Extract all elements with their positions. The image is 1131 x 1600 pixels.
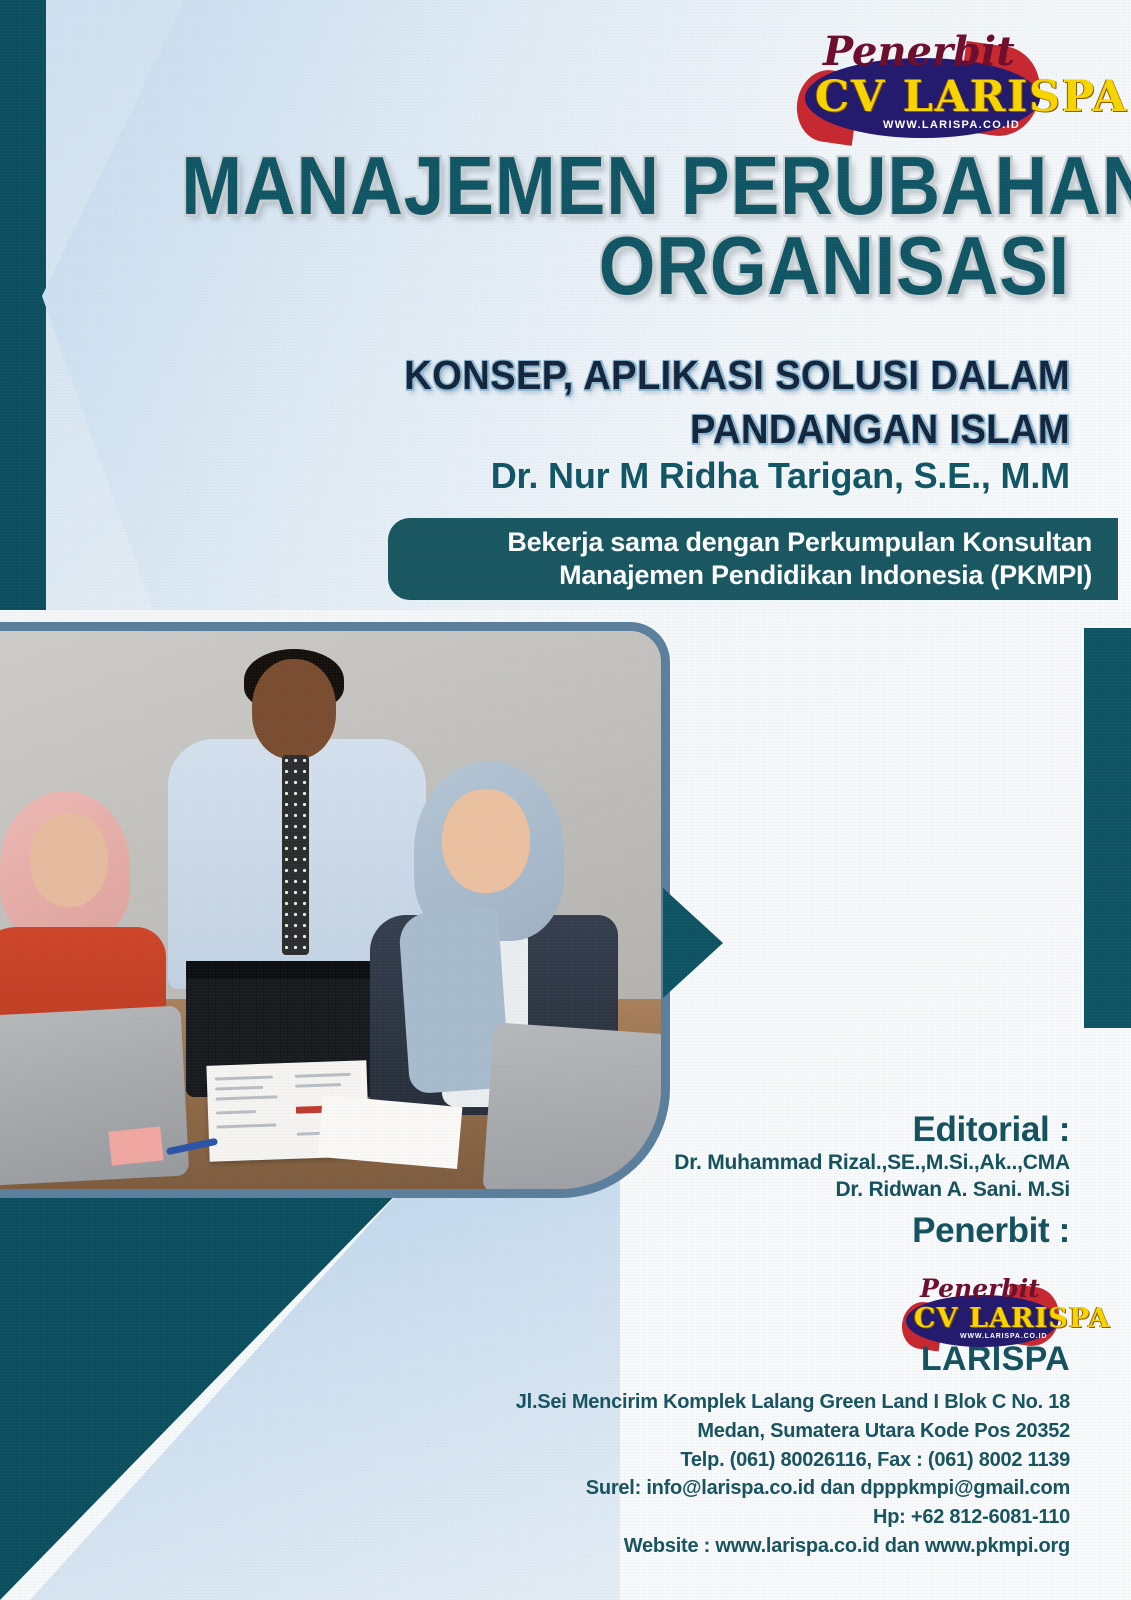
address-line: Jl.Sei Mencirim Komplek Lalang Green Lan… xyxy=(440,1388,1070,1417)
photo-loose-papers xyxy=(318,1095,463,1169)
address-line: Medan, Sumatera Utara Kode Pos 20352 xyxy=(440,1417,1070,1446)
publisher-logo-bottom: Penerbit CV LARISPA WWW.LARISPA.CO.ID xyxy=(888,1268,1078,1350)
author-name: Dr. Nur M Ridha Tarigan, S.E., M.M xyxy=(60,455,1070,497)
logo-script-text: Penerbit xyxy=(920,1274,1040,1303)
collaboration-banner: Bekerja sama dengan Perkumpulan Konsulta… xyxy=(388,518,1118,600)
banner-line-1: Bekerja sama dengan Perkumpulan Konsulta… xyxy=(388,526,1092,559)
editorial-name: Dr. Ridwan A. Sani. M.Si xyxy=(560,1177,1070,1204)
address-line: Telp. (061) 80026116, Fax : (061) 8002 1… xyxy=(440,1446,1070,1475)
logo-name-text: CV LARISPA xyxy=(815,72,1128,122)
cover-photo xyxy=(0,631,661,1189)
subtitle-line-1: KONSEP, APLIKASI SOLUSI DALAM xyxy=(131,348,1070,402)
logo-url-text: WWW.LARISPA.CO.ID xyxy=(960,1333,1047,1340)
photo-person-left-face xyxy=(30,813,108,907)
address-line: Website : www.larispa.co.id dan www.pkmp… xyxy=(440,1532,1070,1561)
editorial-section: Editorial : Dr. Muhammad Rizal.,SE.,M.Si… xyxy=(560,1110,1070,1204)
book-title: MANAJEMEN PERUBAHAN ORGANISASI xyxy=(60,146,1070,305)
photo-sticky-note xyxy=(108,1126,163,1165)
publisher-logo-top: Penerbit CV LARISPA WWW.LARISPA.CO.ID xyxy=(775,14,1075,139)
subtitle-line-2: PANDANGAN ISLAM xyxy=(131,402,1070,456)
banner-line-2: Manajemen Pendidikan Indonesia (PKMPI) xyxy=(388,559,1092,592)
left-teal-strip xyxy=(0,0,46,640)
book-cover: Penerbit CV LARISPA WWW.LARISPA.CO.ID MA… xyxy=(0,0,1131,1600)
publisher-address: Jl.Sei Mencirim Komplek Lalang Green Lan… xyxy=(440,1388,1070,1561)
photo-person-right-face xyxy=(442,789,530,893)
photo-person-center-tie xyxy=(282,755,309,955)
logo-name-text: CV LARISPA xyxy=(914,1303,1110,1334)
editorial-heading: Editorial : xyxy=(560,1110,1070,1150)
title-line-1: MANAJEMEN PERUBAHAN xyxy=(181,146,1070,226)
publisher-heading: Penerbit : xyxy=(560,1211,1070,1251)
title-line-2: ORGANISASI xyxy=(181,226,1070,306)
logo-url-text: WWW.LARISPA.CO.ID xyxy=(883,119,1020,131)
address-line: Hp: +62 812-6081-110 xyxy=(440,1503,1070,1532)
address-line: Surel: info@larispa.co.id dan dpppkmpi@g… xyxy=(440,1474,1070,1503)
editorial-name: Dr. Muhammad Rizal.,SE.,M.Si.,Ak..,CMA xyxy=(560,1150,1070,1177)
book-subtitle: KONSEP, APLIKASI SOLUSI DALAM PANDANGAN … xyxy=(60,348,1070,456)
logo-script-text: Penerbit xyxy=(823,28,1015,75)
right-teal-bar xyxy=(1084,628,1131,1028)
photo-person-center-face xyxy=(252,659,336,759)
photo-person-center-belt xyxy=(186,961,376,979)
